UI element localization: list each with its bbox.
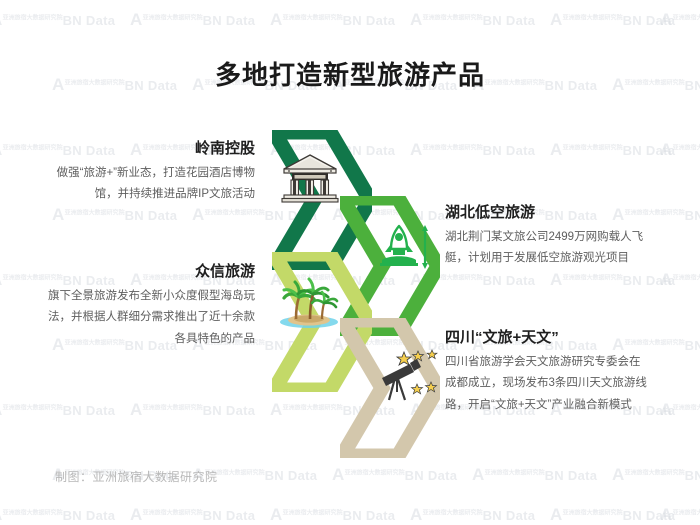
watermark-text: A亚洲旅宿大数据研究院BN Data <box>332 465 457 485</box>
watermark-text: A亚洲旅宿大数据研究院BN Data <box>410 505 535 525</box>
watermark-text: A亚洲旅宿大数据研究院BN Data <box>660 10 700 30</box>
watermark-text: A亚洲旅宿大数据研究院BN Data <box>612 465 700 485</box>
watermark-text: A亚洲旅宿大数据研究院BN Data <box>130 400 255 420</box>
block-zhongxin: 众信旅游 旗下全景旅游发布全新小众度假型海岛玩法，并根据人群细分需求推出了近十余… <box>45 261 255 350</box>
watermark-text: A亚洲旅宿大数据研究院BN Data <box>472 465 597 485</box>
watermark-text: A亚洲旅宿大数据研究院BN Data <box>52 205 177 225</box>
block-sichuan-heading: 四川“文旅+天文” <box>445 327 650 348</box>
block-lingnan-heading: 岭南控股 <box>55 138 255 159</box>
block-sichuan: 四川“文旅+天文” 四川省旅游学会天文旅游研究专委会在成都成立，现场发布3条四川… <box>445 327 650 416</box>
watermark-text: A亚洲旅宿大数据研究院BN Data <box>410 10 535 30</box>
watermark-text: A亚洲旅宿大数据研究院BN Data <box>410 140 535 160</box>
block-hubei-body: 湖北荆门某文旅公司2499万网购载人飞艇，计划用于发展低空旅游观光项目 <box>445 227 650 270</box>
watermark-text: A亚洲旅宿大数据研究院BN Data <box>130 10 255 30</box>
watermark-text: A亚洲旅宿大数据研究院BN Data <box>660 140 700 160</box>
watermark-text: A亚洲旅宿大数据研究院BN Data <box>270 505 395 525</box>
watermark-text: A亚洲旅宿大数据研究院BN Data <box>550 270 675 290</box>
museum-icon <box>281 152 339 204</box>
watermark-text: A亚洲旅宿大数据研究院BN Data <box>0 400 115 420</box>
watermark-text: A亚洲旅宿大数据研究院BN Data <box>550 10 675 30</box>
watermark-text: A亚洲旅宿大数据研究院BN Data <box>550 505 675 525</box>
block-hubei: 湖北低空旅游 湖北荆门某文旅公司2499万网购载人飞艇，计划用于发展低空旅游观光… <box>445 202 650 270</box>
block-hubei-heading: 湖北低空旅游 <box>445 202 650 223</box>
rocket-icon <box>378 222 432 272</box>
telescope-icon <box>378 348 440 404</box>
footer-credit: 制图：亚洲旅宿大数据研究院 <box>55 468 218 485</box>
block-sichuan-body: 四川省旅游学会天文旅游研究专委会在成都成立，现场发布3条四川天文旅游线路，开启“… <box>445 352 650 416</box>
watermark-text: A亚洲旅宿大数据研究院BN Data <box>0 10 115 30</box>
watermark-text: A亚洲旅宿大数据研究院BN Data <box>660 400 700 420</box>
palm-island-icon <box>278 277 340 329</box>
watermark-text: A亚洲旅宿大数据研究院BN Data <box>0 505 115 525</box>
infographic-canvas: A亚洲旅宿大数据研究院BN DataA亚洲旅宿大数据研究院BN DataA亚洲旅… <box>0 0 700 525</box>
block-lingnan-body: 做强“旅游+”新业态，打造花园酒店博物馆，并持续推进品牌IP文旅活动 <box>55 163 255 206</box>
watermark-text: A亚洲旅宿大数据研究院BN Data <box>550 140 675 160</box>
watermark-text: A亚洲旅宿大数据研究院BN Data <box>130 505 255 525</box>
block-lingnan: 岭南控股 做强“旅游+”新业态，打造花园酒店博物馆，并持续推进品牌IP文旅活动 <box>55 138 255 206</box>
watermark-text: A亚洲旅宿大数据研究院BN Data <box>270 10 395 30</box>
block-zhongxin-heading: 众信旅游 <box>45 261 255 282</box>
page-title: 多地打造新型旅游产品 <box>0 55 700 92</box>
watermark-text: A亚洲旅宿大数据研究院BN Data <box>660 505 700 525</box>
block-zhongxin-body: 旗下全景旅游发布全新小众度假型海岛玩法，并根据人群细分需求推出了近十余款各具特色… <box>45 286 255 350</box>
watermark-text: A亚洲旅宿大数据研究院BN Data <box>660 270 700 290</box>
